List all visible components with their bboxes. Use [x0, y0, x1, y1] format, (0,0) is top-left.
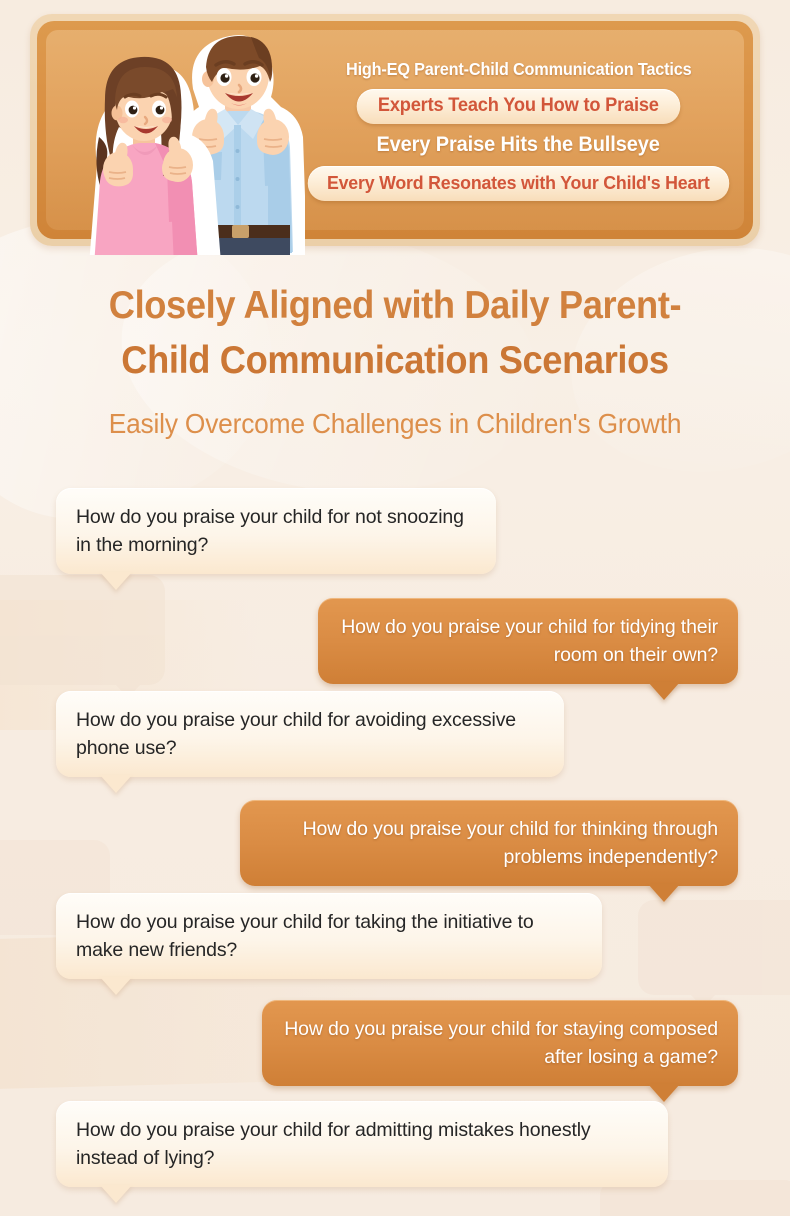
infographic-page: High-EQ Parent-Child Communication Tacti… — [0, 0, 790, 1216]
header-banner-inner: High-EQ Parent-Child Communication Tacti… — [37, 21, 753, 239]
banner-pill-experts-teach[interactable]: Experts Teach You How to Praise — [357, 89, 680, 124]
page-title: Closely Aligned with Daily Parent- Child… — [28, 278, 763, 389]
question-bubble[interactable]: How do you praise your child for thinkin… — [240, 800, 738, 886]
banner-tagline: High-EQ Parent-Child Communication Tacti… — [346, 59, 691, 80]
question-bubble-text: How do you praise your child for admitti… — [76, 1116, 648, 1173]
bubble-tail — [648, 682, 680, 700]
question-bubble[interactable]: How do you praise your child for not sno… — [56, 488, 496, 574]
question-bubble-text: How do you praise your child for not sno… — [76, 503, 476, 560]
bubble-tail — [648, 1084, 680, 1102]
question-bubble-text: How do you praise your child for taking … — [76, 908, 582, 965]
question-bubble[interactable]: How do you praise your child for taking … — [56, 893, 602, 979]
bubble-tail — [100, 1185, 132, 1203]
bubble-tail — [648, 884, 680, 902]
question-bubble[interactable]: How do you praise your child for avoidin… — [56, 691, 564, 777]
question-bubble-text: How do you praise your child for avoidin… — [76, 706, 544, 763]
banner-headline: Every Praise Hits the Bullseye — [377, 133, 660, 157]
question-bubble[interactable]: How do you praise your child for tidying… — [318, 598, 738, 684]
question-bubble[interactable]: How do you praise your child for staying… — [262, 1000, 738, 1086]
header-banner-text-block: High-EQ Parent-Child Communication Tacti… — [292, 21, 745, 239]
bubble-tail — [100, 572, 132, 590]
bubble-tail — [100, 775, 132, 793]
decorative-ghost-bubble — [0, 575, 165, 685]
page-title-line-2: Child Communication Scenarios — [61, 333, 729, 388]
header-banner: High-EQ Parent-Child Communication Tacti… — [30, 14, 760, 246]
parents-thumbs-up-illustration — [75, 27, 305, 263]
decorative-ghost-bubble — [638, 900, 790, 995]
question-bubble[interactable]: How do you praise your child for admitti… — [56, 1101, 668, 1187]
question-bubble-text: How do you praise your child for staying… — [282, 1015, 718, 1072]
question-bubble-text: How do you praise your child for tidying… — [338, 613, 718, 670]
page-title-line-1: Closely Aligned with Daily Parent- — [61, 278, 729, 333]
page-subtitle: Easily Overcome Challenges in Children's… — [24, 408, 767, 440]
bubble-tail — [100, 977, 132, 995]
question-bubble-text: How do you praise your child for thinkin… — [260, 815, 718, 872]
banner-pill-every-word[interactable]: Every Word Resonates with Your Child's H… — [308, 166, 729, 201]
